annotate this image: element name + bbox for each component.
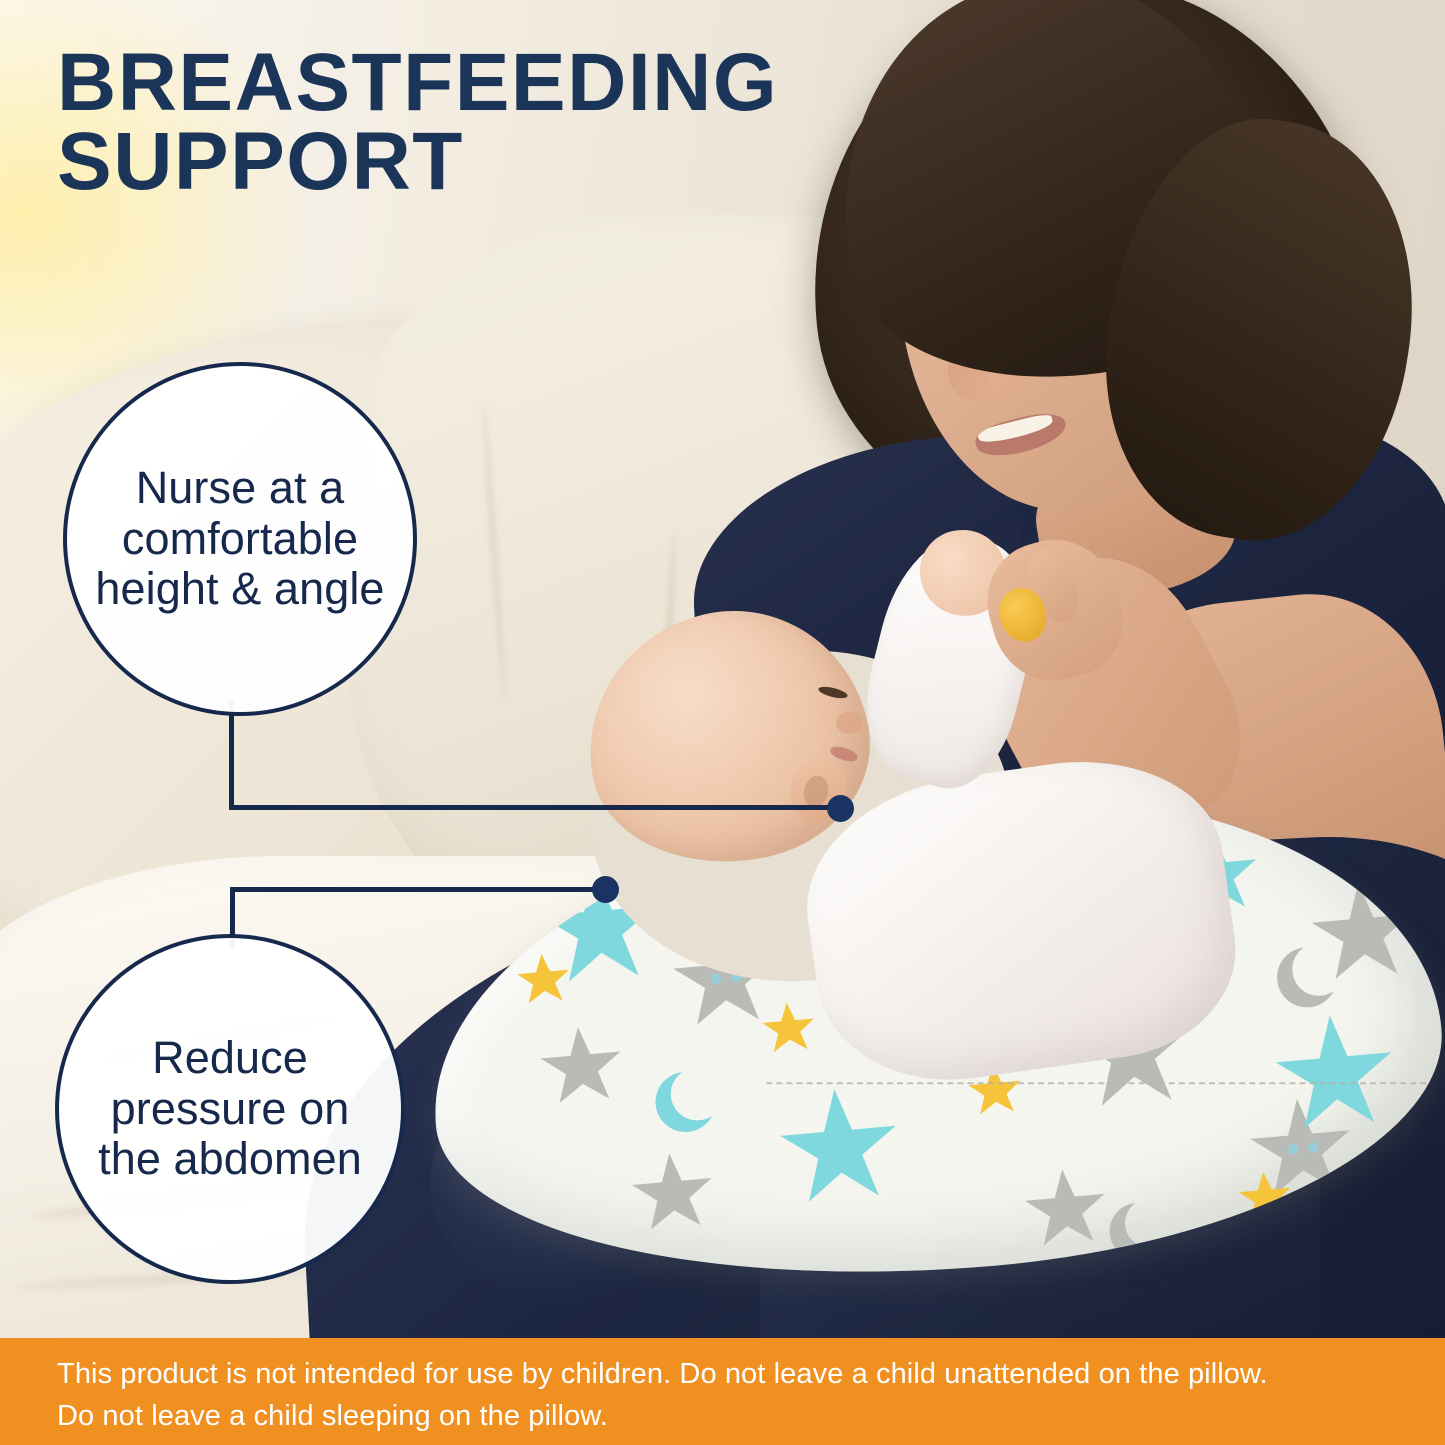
- connector-horizontal-1: [229, 805, 844, 810]
- warning-line-2: Do not leave a child sleeping on the pil…: [57, 1395, 1401, 1437]
- connector-horizontal-2: [230, 887, 612, 892]
- callout-text-1: Nurse at a comfortable height & angle: [67, 463, 413, 614]
- callout-overlay: Nurse at a comfortable height & angle Re…: [0, 0, 1445, 1445]
- callout-bubble-nurse-height-angle[interactable]: Nurse at a comfortable height & angle: [63, 362, 417, 716]
- product-feature-image: Nurse at a comfortable height & angle Re…: [0, 0, 1445, 1445]
- warning-banner: This product is not intended for use by …: [0, 1338, 1445, 1445]
- warning-line-1: This product is not intended for use by …: [57, 1353, 1401, 1395]
- callout-text-2: Reduce pressure on the abdomen: [59, 1033, 401, 1184]
- title-line-2: SUPPORT: [57, 123, 897, 202]
- callout-bubble-reduce-pressure[interactable]: Reduce pressure on the abdomen: [55, 934, 405, 1284]
- callout-dot-2: [592, 876, 619, 903]
- connector-vertical-1: [229, 700, 234, 810]
- callout-dot-1: [827, 795, 854, 822]
- title-line-1: BREASTFEEDING: [57, 37, 778, 128]
- page-title: BREASTFEEDING SUPPORT: [57, 44, 897, 201]
